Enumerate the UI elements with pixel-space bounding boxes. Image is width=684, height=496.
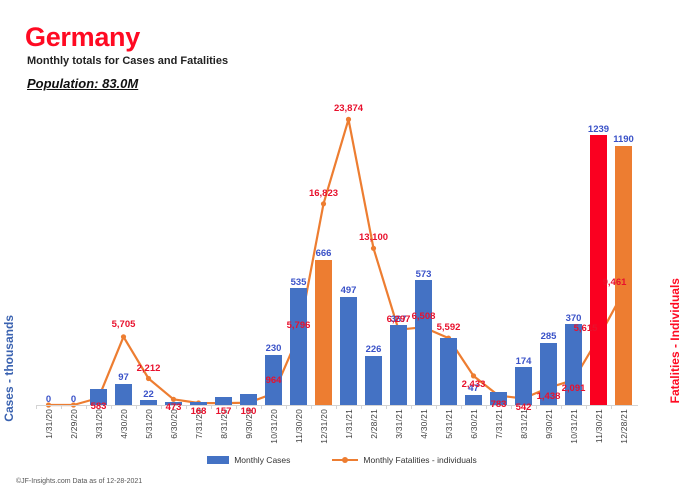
cases-value-label: 226 [366,345,382,355]
fatalities-value-label: 1,438 [537,392,561,402]
x-axis-tick-label: 3/31/21 [394,409,404,439]
x-axis-tick-label: 12/31/20 [319,409,329,444]
x-axis-tick [361,405,362,409]
x-axis-tick-label: 1/31/21 [344,409,354,439]
x-axis-tick [586,405,587,409]
fatalities-data-point [471,373,476,378]
x-axis-tick-label: 11/30/20 [294,409,304,443]
bar-column: 1239 [587,125,611,405]
legend-label-cases: Monthly Cases [234,455,290,465]
cases-bar [215,397,232,405]
cases-bar [440,338,457,405]
fatalities-data-point [121,334,126,339]
fatalities-value-label: 13,100 [359,233,388,243]
fatalities-value-label: 190 [241,407,257,417]
fatalities-value-label: 5,705 [112,320,136,330]
x-axis-tick-label: 11/30/21 [594,409,604,443]
x-axis-tick [186,405,187,409]
x-axis-tick [61,405,62,409]
x-axis-tick [36,405,37,409]
fatalities-value-label: 6,508 [412,312,436,322]
fatalities-data-point [146,376,151,381]
fatalities-value-label: 168 [191,407,207,417]
x-axis-tick-label: 7/31/21 [494,409,504,439]
cases-bar [590,135,607,405]
fatalities-value-label: 473 [166,403,182,413]
cases-value-label: 497 [341,286,357,296]
x-axis-tick [86,405,87,409]
cases-bar [240,394,257,405]
cases-value-label: 174 [516,357,532,367]
x-axis-tick-label: 5/31/21 [444,409,454,439]
fatalities-value-label: 9,461 [603,278,627,288]
x-axis-tick-label: 6/30/20 [169,409,179,439]
cases-value-label: 1190 [613,135,634,145]
x-axis-tick [161,405,162,409]
bar-column: 0 [37,395,61,406]
bar-column: 573 [412,270,436,405]
fatalities-data-point [346,117,351,122]
legend-swatch-bar-icon [207,456,229,464]
x-axis-baseline [36,405,638,406]
y-axis-right-title: Fatalities - Individuals [668,278,682,403]
cases-bar [315,260,332,405]
x-axis-tick [561,405,562,409]
bar-column: 97 [112,373,136,405]
fatalities-value-label: 783 [491,400,507,410]
bar-column [212,396,236,405]
chart-subtitle: Monthly totals for Cases and Fatalities [27,55,228,67]
legend-item-fatalities: Monthly Fatalities - individuals [332,455,476,465]
fatalities-value-label: 6,297 [387,315,411,325]
x-axis-tick [536,405,537,409]
cases-value-label: 573 [416,270,432,280]
bar-column [437,337,461,405]
legend-item-cases: Monthly Cases [207,455,290,465]
fatalities-value-label: 964 [266,376,282,386]
fatalities-value-label: 5,592 [437,323,461,333]
x-axis-tick [211,405,212,409]
x-axis-tick [411,405,412,409]
footer-credit: ©JF-Insights.com Data as of 12-28-2021 [16,478,142,485]
fatalities-value-label: 2,091 [562,384,586,394]
fatalities-data-point [321,201,326,206]
cases-bar [615,146,632,405]
x-axis-tick-label: 8/31/21 [519,409,529,439]
cases-bar [465,395,482,405]
legend-label-fatalities: Monthly Fatalities - individuals [363,455,476,465]
x-axis-tick-label: 6/30/21 [469,409,479,439]
bar-column: 22 [137,390,161,405]
x-axis-tick-label: 2/29/20 [69,409,79,439]
x-axis-tick [486,405,487,409]
bar-column: 535 [287,278,311,405]
x-axis-tick-label: 4/30/21 [419,409,429,439]
chart-page: Germany Monthly totals for Cases and Fat… [0,0,684,496]
chart-legend: Monthly Cases Monthly Fatalities - indiv… [0,455,684,465]
x-axis-tick [611,405,612,409]
x-axis-tick-label: 10/31/21 [569,409,579,444]
cases-value-label: 285 [541,332,557,342]
fatalities-value-label: 542 [516,403,532,413]
x-axis-tick-label: 9/30/21 [544,409,554,439]
cases-bar [515,367,532,405]
bar-column: 367 [387,315,411,405]
cases-value-label: 97 [118,373,129,383]
page-title: Germany [25,22,140,53]
x-axis-tick-label: 1/31/20 [44,409,54,439]
x-axis-tick [136,405,137,409]
fatalities-value-label: 157 [216,407,232,417]
y-axis-left-title: Cases - thousands [2,315,16,422]
x-axis-tick [311,405,312,409]
x-axis-tick [111,405,112,409]
x-axis-tick [336,405,337,409]
bar-column: 174 [512,357,536,405]
x-axis-tick [286,405,287,409]
cases-value-label: 0 [71,395,76,405]
x-axis-tick-label: 10/31/20 [269,409,279,444]
bar-column: 497 [337,286,361,405]
fatalities-value-label: 2,433 [462,380,486,390]
cases-value-label: 230 [266,344,282,354]
bar-column: 226 [362,345,386,405]
x-axis-tick-label: 4/30/20 [119,409,129,439]
cases-bar [390,325,407,405]
plot-area: 0097222305356664972263675734717428537012… [36,100,636,405]
x-axis-tick [461,405,462,409]
x-axis-tick [436,405,437,409]
cases-bar [365,356,382,405]
fatalities-value-label: 16,823 [309,189,338,199]
legend-swatch-line-icon [332,456,358,464]
bar-column [237,393,261,405]
cases-bar [340,297,357,405]
fatalities-value-label: 2,212 [137,364,161,374]
fatalities-value-label: 5,796 [287,321,311,331]
cases-value-label: 666 [316,249,332,259]
fatalities-value-label: 583 [91,402,107,412]
fatalities-value-label: 23,874 [334,104,363,114]
fatalities-value-label: 5,615 [574,324,598,334]
fatalities-data-point [371,246,376,251]
x-axis-tick [261,405,262,409]
cases-bar [415,280,432,405]
cases-bar [290,288,307,405]
x-axis-tick-label: 12/28/21 [619,409,629,444]
cases-value-label: 0 [46,395,51,405]
bar-column: 0 [62,395,86,406]
x-axis-tick-label: 5/31/20 [144,409,154,439]
cases-value-label: 535 [291,278,307,288]
cases-bar [115,384,132,405]
x-axis-tick [236,405,237,409]
cases-value-label: 22 [143,390,154,400]
bar-column: 666 [312,249,336,405]
x-axis-tick [511,405,512,409]
x-axis-tick [386,405,387,409]
bar-column: 1190 [612,135,636,405]
cases-value-label: 1239 [588,125,609,135]
x-axis-tick-label: 3/31/20 [94,409,104,439]
population-label: Population: 83.0M [27,76,138,91]
x-axis-tick-label: 2/28/21 [369,409,379,439]
